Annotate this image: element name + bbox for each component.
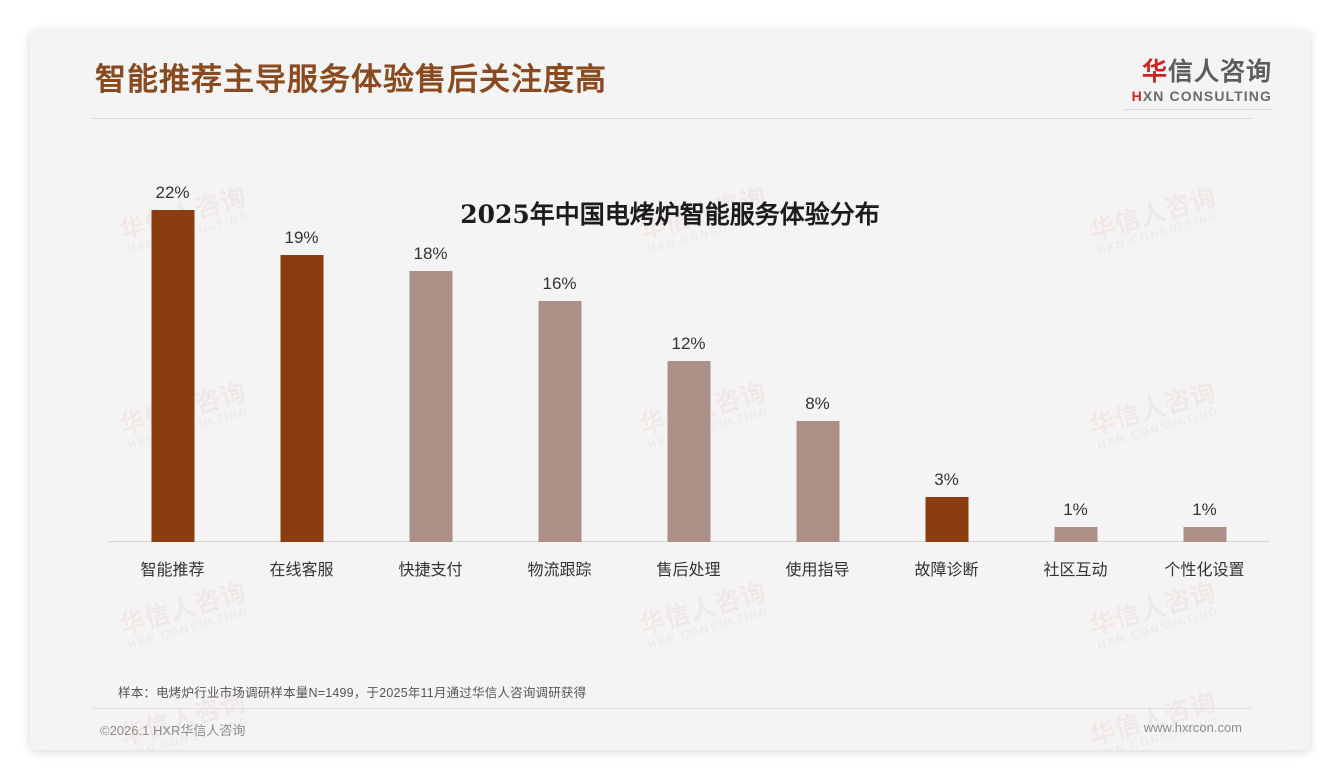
logo-english-text: HXN CONSULTING	[1124, 88, 1272, 104]
bar-value-label: 18%	[413, 244, 447, 264]
bar-group: 18%快捷支付	[366, 180, 495, 542]
bar-value-label: 3%	[934, 470, 959, 490]
bar-group: 16%物流跟踪	[495, 180, 624, 542]
company-logo: 华信人咨询 HXN CONSULTING	[1124, 58, 1272, 110]
x-axis-category-label: 在线客服	[269, 556, 333, 580]
bar[interactable]: 12%	[667, 361, 710, 542]
bar-group: 1%社区互动	[1011, 180, 1140, 542]
x-axis-category-label: 社区互动	[1043, 556, 1107, 580]
bar-group: 8%使用指导	[753, 180, 882, 542]
header-divider	[92, 118, 1252, 119]
x-axis-category-label: 物流跟踪	[527, 556, 591, 580]
footer-divider	[92, 708, 1252, 709]
slide-card: 华信人咨询HXN CONSULTING华信人咨询HXN CONSULTING华信…	[30, 30, 1310, 750]
bar-group: 3%故障诊断	[882, 180, 1011, 542]
bar-value-label: 8%	[805, 394, 830, 414]
chart-container: 2025年中国电烤炉智能服务体验分布 22%智能推荐19%在线客服18%快捷支付…	[30, 120, 1310, 660]
bar[interactable]: 1%	[1054, 527, 1097, 542]
slide-footer: ©2026.1 HXR华信人咨询 www.hxrcon.com	[30, 716, 1310, 750]
bar-value-label: 22%	[155, 183, 189, 203]
bar-value-label: 19%	[284, 228, 318, 248]
logo-chinese-text: 华信人咨询	[1124, 58, 1272, 86]
logo-underline	[1124, 109, 1272, 110]
x-axis-category-label: 售后处理	[656, 556, 720, 580]
logo-h-character: H	[1132, 88, 1143, 104]
bar-group: 19%在线客服	[237, 180, 366, 542]
bar[interactable]: 1%	[1183, 527, 1226, 542]
logo-english-rest: XN CONSULTING	[1143, 88, 1272, 104]
logo-chinese-rest: 信人咨询	[1168, 57, 1272, 86]
x-axis-category-label: 故障诊断	[914, 556, 978, 580]
footer-copyright: ©2026.1 HXR华信人咨询	[100, 720, 245, 739]
x-axis-category-label: 智能推荐	[140, 556, 204, 580]
bar[interactable]: 19%	[280, 255, 323, 542]
bar-value-label: 16%	[542, 274, 576, 294]
x-axis-category-label: 快捷支付	[398, 556, 462, 580]
slide-header: 智能推荐主导服务体验售后关注度高 华信人咨询 HXN CONSULTING	[30, 30, 1310, 120]
bar-group: 1%个性化设置	[1140, 180, 1269, 542]
chart-footnote: 样本：电烤炉行业市场调研样本量N=1499，于2025年11月通过华信人咨询调研…	[118, 682, 586, 701]
bar[interactable]: 3%	[925, 497, 968, 542]
bar-group: 22%智能推荐	[108, 180, 237, 542]
bar-value-label: 1%	[1063, 500, 1088, 520]
footer-url: www.hxrcon.com	[1144, 720, 1242, 735]
bar-chart-plot: 22%智能推荐19%在线客服18%快捷支付16%物流跟踪12%售后处理8%使用指…	[108, 180, 1270, 582]
x-axis-category-label: 使用指导	[785, 556, 849, 580]
logo-hua-character: 华	[1142, 57, 1168, 86]
bar[interactable]: 18%	[409, 271, 452, 543]
bar-group: 12%售后处理	[624, 180, 753, 542]
bar-value-label: 12%	[671, 334, 705, 354]
bar[interactable]: 8%	[796, 421, 839, 542]
x-axis-category-label: 个性化设置	[1164, 556, 1244, 580]
bar[interactable]: 16%	[538, 301, 581, 542]
bar[interactable]: 22%	[151, 210, 194, 542]
page-title: 智能推荐主导服务体验售后关注度高	[95, 54, 607, 99]
bar-value-label: 1%	[1192, 500, 1217, 520]
